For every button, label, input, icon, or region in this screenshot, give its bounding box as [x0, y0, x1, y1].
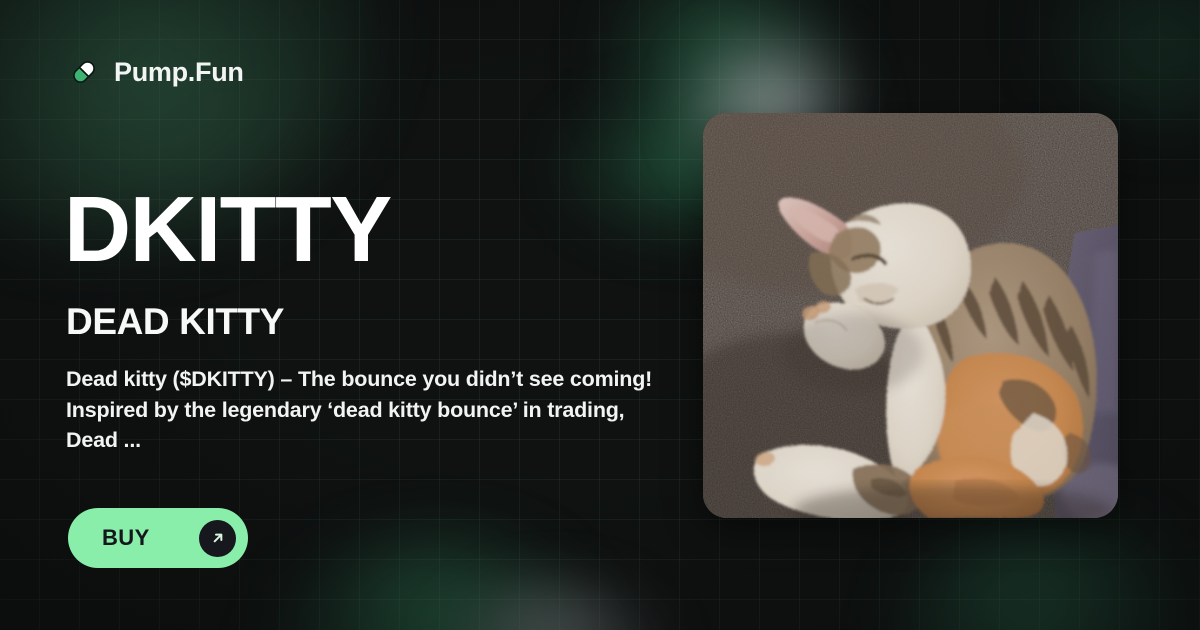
buy-button-label: BUY — [102, 527, 150, 549]
pill-icon — [68, 56, 100, 88]
token-image-card[interactable] — [703, 113, 1118, 518]
token-description: Dead kitty ($DKITTY) – The bounce you di… — [66, 364, 666, 456]
token-image — [703, 113, 1118, 518]
brand-logo[interactable]: Pump.Fun — [68, 56, 244, 88]
buy-button[interactable]: BUY — [68, 508, 248, 568]
token-name: DEAD KITTY — [66, 303, 284, 340]
arrow-up-right-icon — [199, 520, 236, 557]
brand-name: Pump.Fun — [114, 57, 244, 88]
token-ticker: DKITTY — [64, 183, 391, 276]
og-card-canvas: Pump.Fun DKITTY DEAD KITTY Dead kitty ($… — [0, 0, 1200, 630]
